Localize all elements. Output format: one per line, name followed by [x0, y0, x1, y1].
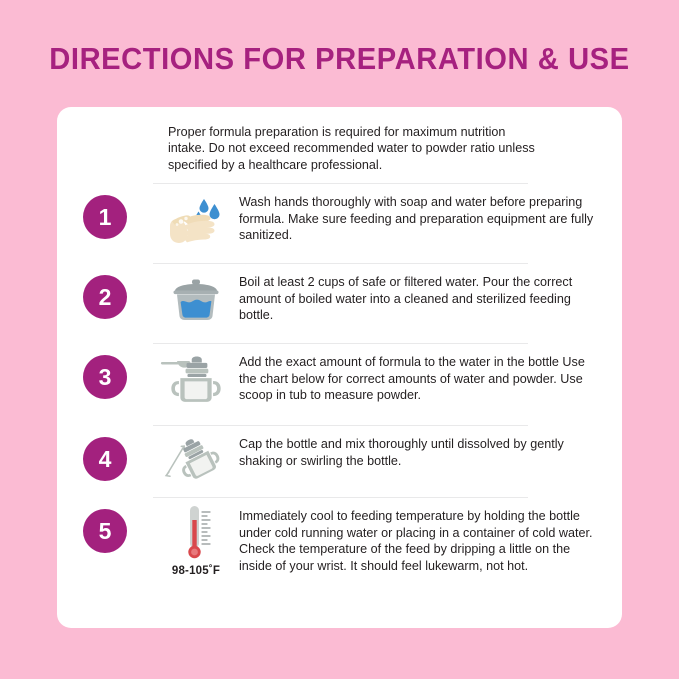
- steps-list: 1: [57, 183, 622, 607]
- washing-hands-icon: [159, 193, 233, 247]
- thermometer-icon: [159, 507, 233, 561]
- step-divider: [153, 497, 528, 498]
- step-divider: [153, 263, 528, 264]
- step-badge-container: 3: [57, 343, 153, 399]
- step-badge-container: 1: [57, 183, 153, 239]
- step-number-badge: 5: [83, 509, 127, 553]
- step-text: Add the exact amount of formula to the w…: [239, 343, 622, 404]
- step-badge-container: 2: [57, 263, 153, 319]
- directions-card: Proper formula preparation is required f…: [57, 107, 622, 628]
- step-item-3: 3: [57, 343, 622, 425]
- step-text: Wash hands thoroughly with soap and wate…: [239, 183, 622, 244]
- step-number-badge: 4: [83, 437, 127, 481]
- step-divider: [153, 425, 528, 426]
- step-badge-container: 4: [57, 425, 153, 481]
- step-text: Boil at least 2 cups of safe or filtered…: [239, 263, 622, 324]
- step-divider: [153, 343, 528, 344]
- step-number-badge: 3: [83, 355, 127, 399]
- step-number-badge: 1: [83, 195, 127, 239]
- step-item-1: 1: [57, 183, 622, 263]
- step-icon-container: [153, 183, 239, 247]
- step-badge-container: 5: [57, 497, 153, 553]
- page-root: DIRECTIONS FOR PREPARATION & USE Proper …: [0, 0, 679, 679]
- bottle-and-scoop-icon: [159, 353, 233, 407]
- step-icon-container: [153, 263, 239, 327]
- step-text: Immediately cool to feeding temperature …: [239, 497, 622, 574]
- step-icon-container: [153, 343, 239, 407]
- temperature-label: 98-105˚F: [172, 565, 220, 577]
- step-item-4: 4: [57, 425, 622, 497]
- step-divider: [153, 183, 528, 184]
- boiling-pot-icon: [159, 273, 233, 327]
- step-icon-container: 98-105˚F: [153, 497, 239, 577]
- step-icon-container: [153, 425, 239, 489]
- page-title: DIRECTIONS FOR PREPARATION & USE: [20, 41, 658, 77]
- shaking-bottle-icon: [159, 435, 233, 489]
- step-item-2: 2: [57, 263, 622, 343]
- intro-paragraph: Proper formula preparation is required f…: [168, 124, 540, 173]
- step-item-5: 5: [57, 497, 622, 607]
- step-text: Cap the bottle and mix thoroughly until …: [239, 425, 622, 469]
- step-number-badge: 2: [83, 275, 127, 319]
